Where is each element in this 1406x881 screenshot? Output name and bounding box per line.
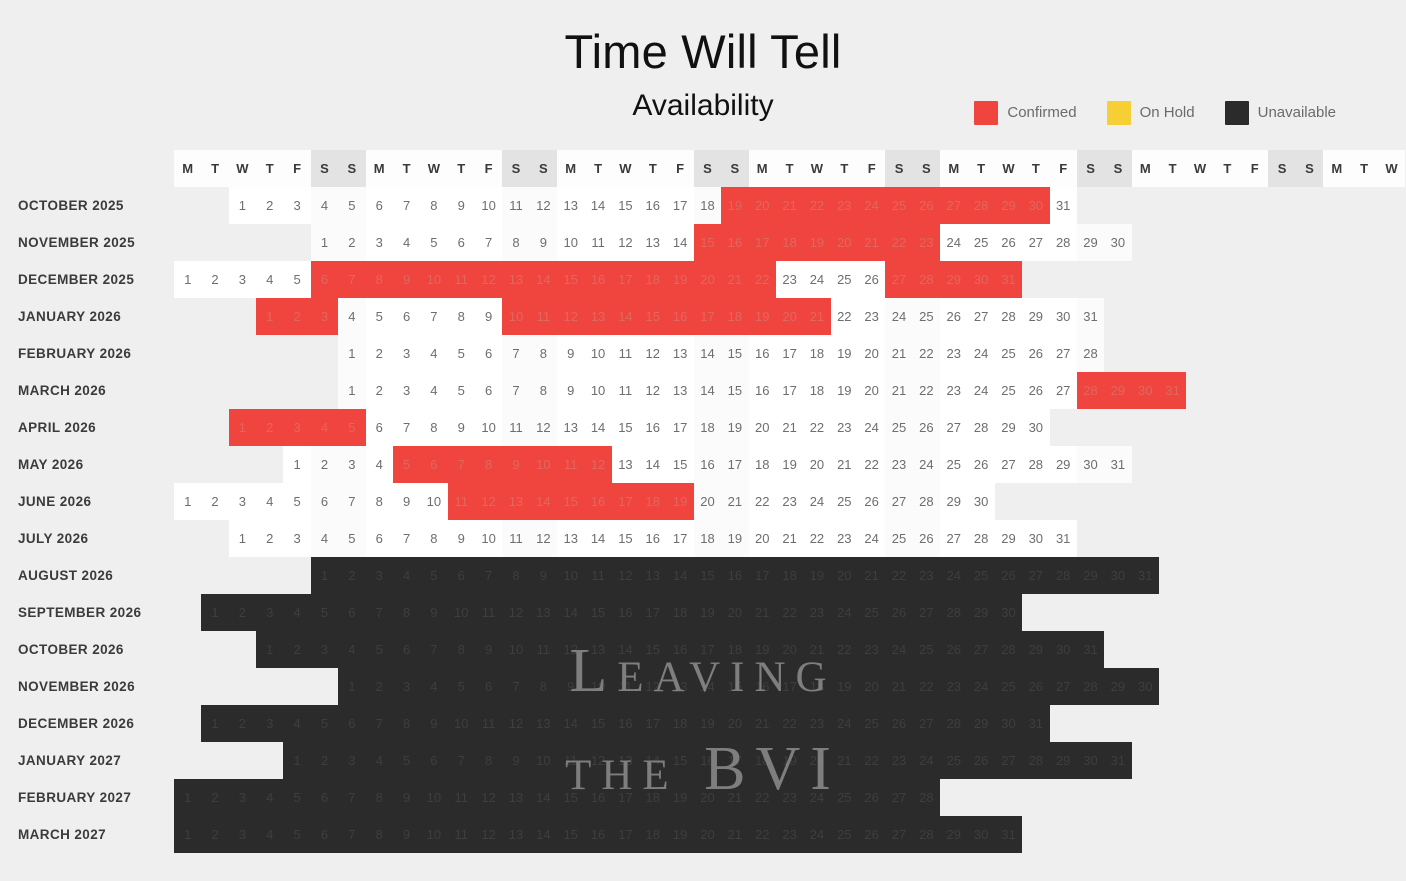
calendar-day-cell-confirmed[interactable]: 6 <box>311 261 338 298</box>
calendar-day-cell-unavailable[interactable]: 25 <box>967 557 994 594</box>
calendar-day-cell-free[interactable]: 16 <box>639 187 666 224</box>
calendar-day-cell-confirmed[interactable]: 21 <box>858 224 885 261</box>
calendar-day-cell-free[interactable]: 5 <box>448 335 475 372</box>
calendar-day-cell-confirmed[interactable]: 4 <box>311 409 338 446</box>
calendar-day-cell-unavailable[interactable]: 24 <box>803 816 830 853</box>
calendar-day-cell-free[interactable]: 24 <box>967 372 994 409</box>
calendar-day-cell-free[interactable]: 4 <box>420 335 447 372</box>
calendar-day-cell-unavailable[interactable]: 30 <box>1050 631 1077 668</box>
calendar-day-cell-unavailable[interactable]: 12 <box>584 742 611 779</box>
calendar-day-cell-unavailable[interactable]: 10 <box>530 742 557 779</box>
calendar-day-cell-unavailable[interactable]: 7 <box>420 631 447 668</box>
calendar-day-cell-free[interactable]: 22 <box>913 372 940 409</box>
calendar-day-cell-free[interactable]: 10 <box>584 335 611 372</box>
calendar-day-cell-unavailable[interactable]: 3 <box>311 631 338 668</box>
calendar-day-cell-unavailable[interactable]: 23 <box>803 705 830 742</box>
calendar-day-cell-unavailable[interactable]: 3 <box>366 557 393 594</box>
calendar-day-cell-free[interactable]: 24 <box>913 446 940 483</box>
calendar-day-cell-unavailable[interactable]: 11 <box>557 742 584 779</box>
calendar-day-cell-confirmed[interactable]: 25 <box>885 187 912 224</box>
calendar-day-cell-free[interactable]: 13 <box>557 520 584 557</box>
calendar-day-cell-free[interactable]: 25 <box>967 224 994 261</box>
calendar-day-cell-unavailable[interactable]: 9 <box>393 816 420 853</box>
calendar-day-cell-unavailable[interactable]: 17 <box>721 742 748 779</box>
calendar-day-cell-unavailable[interactable]: 20 <box>694 816 721 853</box>
calendar-day-cell-free[interactable]: 30 <box>1022 520 1049 557</box>
calendar-day-cell-free[interactable]: 4 <box>256 261 283 298</box>
calendar-day-cell-free[interactable]: 6 <box>475 372 502 409</box>
calendar-day-cell-free[interactable]: 28 <box>967 409 994 446</box>
calendar-day-cell-free[interactable]: 15 <box>612 187 639 224</box>
calendar-day-cell-confirmed[interactable]: 17 <box>612 483 639 520</box>
calendar-day-cell-unavailable[interactable]: 23 <box>858 631 885 668</box>
calendar-day-cell-free[interactable]: 31 <box>1077 298 1104 335</box>
calendar-day-cell-unavailable[interactable]: 4 <box>338 631 365 668</box>
calendar-day-cell-unavailable[interactable]: 22 <box>913 668 940 705</box>
calendar-day-cell-confirmed[interactable]: 15 <box>694 224 721 261</box>
calendar-day-cell-unavailable[interactable]: 10 <box>584 668 611 705</box>
calendar-day-cell-unavailable[interactable]: 15 <box>557 779 584 816</box>
calendar-day-cell-free[interactable]: 15 <box>721 335 748 372</box>
calendar-day-cell-unavailable[interactable]: 10 <box>502 631 529 668</box>
calendar-day-cell-unavailable[interactable]: 27 <box>913 594 940 631</box>
calendar-day-cell-free[interactable]: 6 <box>475 335 502 372</box>
calendar-day-cell-unavailable[interactable]: 25 <box>831 779 858 816</box>
calendar-day-cell-confirmed[interactable]: 11 <box>448 261 475 298</box>
calendar-day-cell-unavailable[interactable]: 21 <box>721 816 748 853</box>
calendar-day-cell-free[interactable]: 25 <box>831 483 858 520</box>
calendar-day-cell-free[interactable]: 2 <box>201 261 228 298</box>
calendar-day-cell-unavailable[interactable]: 23 <box>776 779 803 816</box>
calendar-day-cell-unavailable[interactable]: 20 <box>721 594 748 631</box>
calendar-day-cell-confirmed[interactable]: 7 <box>338 261 365 298</box>
calendar-day-cell-free[interactable]: 26 <box>1022 335 1049 372</box>
calendar-day-cell-confirmed[interactable]: 30 <box>1132 372 1159 409</box>
calendar-day-cell-unavailable[interactable]: 20 <box>694 779 721 816</box>
calendar-day-cell-confirmed[interactable]: 11 <box>530 298 557 335</box>
calendar-day-cell-free[interactable]: 27 <box>940 520 967 557</box>
calendar-day-cell-unavailable[interactable]: 19 <box>803 557 830 594</box>
calendar-day-cell-free[interactable]: 31 <box>1050 520 1077 557</box>
calendar-day-cell-free[interactable]: 21 <box>831 446 858 483</box>
calendar-day-cell-free[interactable]: 15 <box>612 409 639 446</box>
calendar-day-cell-free[interactable]: 21 <box>721 483 748 520</box>
calendar-day-cell-free[interactable]: 3 <box>229 261 256 298</box>
calendar-day-cell-unavailable[interactable]: 1 <box>311 557 338 594</box>
calendar-day-cell-unavailable[interactable]: 17 <box>749 557 776 594</box>
calendar-day-cell-unavailable[interactable]: 14 <box>557 594 584 631</box>
calendar-day-cell-confirmed[interactable]: 1 <box>229 409 256 446</box>
calendar-day-cell-unavailable[interactable]: 10 <box>420 816 447 853</box>
calendar-day-cell-free[interactable]: 15 <box>666 446 693 483</box>
calendar-day-cell-unavailable[interactable]: 26 <box>967 742 994 779</box>
calendar-day-cell-free[interactable]: 10 <box>420 483 447 520</box>
calendar-day-cell-confirmed[interactable]: 15 <box>557 483 584 520</box>
calendar-day-cell-free[interactable]: 10 <box>584 372 611 409</box>
calendar-day-cell-confirmed[interactable]: 28 <box>913 261 940 298</box>
calendar-day-cell-free[interactable]: 3 <box>393 372 420 409</box>
calendar-day-cell-unavailable[interactable]: 22 <box>749 779 776 816</box>
calendar-day-cell-unavailable[interactable]: 11 <box>475 594 502 631</box>
calendar-day-cell-unavailable[interactable]: 15 <box>666 742 693 779</box>
calendar-day-cell-unavailable[interactable]: 17 <box>776 668 803 705</box>
calendar-day-cell-free[interactable]: 9 <box>557 372 584 409</box>
calendar-day-cell-free[interactable]: 15 <box>612 520 639 557</box>
calendar-day-cell-unavailable[interactable]: 14 <box>530 779 557 816</box>
calendar-day-cell-unavailable[interactable]: 4 <box>283 705 310 742</box>
calendar-day-cell-free[interactable]: 17 <box>666 409 693 446</box>
calendar-day-cell-free[interactable]: 22 <box>803 409 830 446</box>
calendar-day-cell-free[interactable]: 17 <box>776 335 803 372</box>
calendar-day-cell-free[interactable]: 8 <box>530 372 557 409</box>
calendar-day-cell-free[interactable]: 11 <box>612 372 639 409</box>
calendar-day-cell-free[interactable]: 2 <box>256 187 283 224</box>
calendar-day-cell-unavailable[interactable]: 13 <box>639 557 666 594</box>
calendar-day-cell-free[interactable]: 5 <box>338 520 365 557</box>
calendar-day-cell-unavailable[interactable]: 25 <box>858 705 885 742</box>
calendar-day-cell-free[interactable]: 6 <box>393 298 420 335</box>
calendar-day-cell-free[interactable]: 24 <box>858 409 885 446</box>
calendar-day-cell-unavailable[interactable]: 14 <box>694 668 721 705</box>
calendar-day-cell-unavailable[interactable]: 11 <box>612 668 639 705</box>
calendar-day-cell-confirmed[interactable]: 21 <box>776 187 803 224</box>
calendar-day-cell-free[interactable]: 25 <box>831 261 858 298</box>
calendar-day-cell-free[interactable]: 30 <box>1104 224 1131 261</box>
calendar-day-cell-free[interactable]: 7 <box>393 187 420 224</box>
calendar-day-cell-unavailable[interactable]: 28 <box>913 779 940 816</box>
calendar-day-cell-free[interactable]: 23 <box>776 483 803 520</box>
calendar-day-cell-unavailable[interactable]: 11 <box>475 705 502 742</box>
calendar-day-cell-confirmed[interactable]: 5 <box>338 409 365 446</box>
calendar-day-cell-unavailable[interactable]: 26 <box>940 631 967 668</box>
calendar-day-cell-unavailable[interactable]: 24 <box>831 594 858 631</box>
calendar-day-cell-unavailable[interactable]: 26 <box>858 779 885 816</box>
calendar-day-cell-free[interactable]: 17 <box>721 446 748 483</box>
calendar-day-cell-unavailable[interactable]: 6 <box>448 557 475 594</box>
calendar-day-cell-confirmed[interactable]: 12 <box>557 298 584 335</box>
calendar-day-cell-confirmed[interactable]: 14 <box>530 483 557 520</box>
calendar-day-cell-free[interactable]: 13 <box>612 446 639 483</box>
calendar-day-cell-free[interactable]: 1 <box>229 520 256 557</box>
calendar-day-cell-free[interactable]: 18 <box>803 335 830 372</box>
calendar-day-cell-free[interactable]: 25 <box>995 372 1022 409</box>
calendar-day-cell-free[interactable]: 20 <box>858 335 885 372</box>
calendar-day-cell-confirmed[interactable]: 22 <box>803 187 830 224</box>
calendar-day-cell-free[interactable]: 29 <box>995 520 1022 557</box>
calendar-day-cell-free[interactable]: 10 <box>557 224 584 261</box>
calendar-day-cell-confirmed[interactable]: 11 <box>557 446 584 483</box>
calendar-day-cell-unavailable[interactable]: 26 <box>1022 668 1049 705</box>
calendar-day-cell-confirmed[interactable]: 29 <box>940 261 967 298</box>
calendar-day-cell-confirmed[interactable]: 14 <box>530 261 557 298</box>
calendar-day-cell-unavailable[interactable]: 17 <box>612 816 639 853</box>
calendar-day-cell-unavailable[interactable]: 18 <box>666 705 693 742</box>
calendar-day-cell-unavailable[interactable]: 20 <box>803 742 830 779</box>
calendar-day-cell-unavailable[interactable]: 3 <box>338 742 365 779</box>
calendar-day-cell-free[interactable]: 25 <box>885 520 912 557</box>
calendar-day-cell-unavailable[interactable]: 2 <box>201 779 228 816</box>
calendar-day-cell-unavailable[interactable]: 12 <box>475 816 502 853</box>
calendar-day-cell-free[interactable]: 27 <box>1022 224 1049 261</box>
calendar-day-cell-unavailable[interactable]: 22 <box>776 705 803 742</box>
calendar-day-cell-unavailable[interactable]: 23 <box>803 594 830 631</box>
calendar-day-cell-unavailable[interactable]: 13 <box>502 816 529 853</box>
calendar-day-cell-free[interactable]: 19 <box>721 409 748 446</box>
calendar-day-cell-unavailable[interactable]: 19 <box>666 816 693 853</box>
calendar-day-cell-free[interactable]: 26 <box>858 261 885 298</box>
calendar-day-cell-confirmed[interactable]: 2 <box>256 409 283 446</box>
calendar-day-cell-unavailable[interactable]: 18 <box>803 668 830 705</box>
calendar-day-cell-confirmed[interactable]: 18 <box>639 483 666 520</box>
calendar-day-cell-confirmed[interactable]: 21 <box>721 261 748 298</box>
calendar-day-cell-free[interactable]: 1 <box>174 483 201 520</box>
calendar-day-cell-unavailable[interactable]: 27 <box>967 631 994 668</box>
calendar-day-cell-free[interactable]: 4 <box>393 224 420 261</box>
calendar-day-cell-unavailable[interactable]: 2 <box>338 557 365 594</box>
calendar-day-cell-unavailable[interactable]: 12 <box>557 631 584 668</box>
calendar-day-cell-free[interactable]: 13 <box>557 409 584 446</box>
calendar-day-cell-free[interactable]: 19 <box>831 335 858 372</box>
calendar-day-cell-confirmed[interactable]: 12 <box>475 483 502 520</box>
calendar-day-cell-confirmed[interactable]: 28 <box>967 187 994 224</box>
calendar-day-cell-unavailable[interactable]: 30 <box>1104 557 1131 594</box>
calendar-day-cell-confirmed[interactable]: 9 <box>393 261 420 298</box>
calendar-day-cell-unavailable[interactable]: 1 <box>201 705 228 742</box>
calendar-day-cell-unavailable[interactable]: 15 <box>639 631 666 668</box>
calendar-day-cell-free[interactable]: 14 <box>694 372 721 409</box>
calendar-day-cell-free[interactable]: 23 <box>831 409 858 446</box>
calendar-day-cell-unavailable[interactable]: 14 <box>639 742 666 779</box>
calendar-day-cell-free[interactable]: 10 <box>475 520 502 557</box>
calendar-day-cell-unavailable[interactable]: 30 <box>1077 742 1104 779</box>
calendar-day-cell-unavailable[interactable]: 29 <box>940 816 967 853</box>
calendar-day-cell-free[interactable]: 2 <box>366 372 393 409</box>
calendar-day-cell-unavailable[interactable]: 21 <box>858 557 885 594</box>
calendar-day-cell-free[interactable]: 3 <box>229 483 256 520</box>
calendar-day-cell-unavailable[interactable]: 2 <box>366 668 393 705</box>
calendar-day-cell-unavailable[interactable]: 29 <box>1077 557 1104 594</box>
calendar-day-cell-unavailable[interactable]: 20 <box>831 557 858 594</box>
calendar-day-cell-free[interactable]: 23 <box>776 261 803 298</box>
calendar-day-cell-unavailable[interactable]: 2 <box>229 705 256 742</box>
calendar-day-cell-free[interactable]: 11 <box>584 224 611 261</box>
calendar-day-cell-free[interactable]: 16 <box>749 372 776 409</box>
calendar-day-cell-free[interactable]: 28 <box>967 520 994 557</box>
calendar-day-cell-unavailable[interactable]: 21 <box>803 631 830 668</box>
calendar-day-cell-free[interactable]: 6 <box>366 520 393 557</box>
calendar-day-cell-confirmed[interactable]: 13 <box>502 261 529 298</box>
calendar-day-cell-free[interactable]: 7 <box>475 224 502 261</box>
calendar-day-cell-confirmed[interactable]: 3 <box>311 298 338 335</box>
calendar-day-cell-free[interactable]: 7 <box>393 520 420 557</box>
calendar-day-cell-unavailable[interactable]: 17 <box>639 705 666 742</box>
calendar-day-cell-free[interactable]: 28 <box>913 483 940 520</box>
calendar-day-cell-confirmed[interactable]: 20 <box>831 224 858 261</box>
calendar-day-cell-free[interactable]: 27 <box>940 409 967 446</box>
calendar-day-cell-free[interactable]: 7 <box>420 298 447 335</box>
calendar-day-cell-unavailable[interactable]: 5 <box>393 742 420 779</box>
calendar-day-cell-free[interactable]: 5 <box>283 261 310 298</box>
calendar-day-cell-unavailable[interactable]: 1 <box>338 668 365 705</box>
calendar-day-cell-free[interactable]: 5 <box>448 372 475 409</box>
calendar-day-cell-free[interactable]: 17 <box>776 372 803 409</box>
calendar-day-cell-free[interactable]: 8 <box>502 224 529 261</box>
calendar-day-cell-free[interactable]: 6 <box>366 409 393 446</box>
calendar-day-cell-unavailable[interactable]: 3 <box>393 668 420 705</box>
calendar-day-cell-free[interactable]: 23 <box>831 520 858 557</box>
calendar-day-cell-unavailable[interactable]: 16 <box>612 594 639 631</box>
calendar-day-cell-unavailable[interactable]: 6 <box>420 742 447 779</box>
calendar-day-cell-free[interactable]: 15 <box>721 372 748 409</box>
calendar-day-cell-free[interactable]: 13 <box>557 187 584 224</box>
calendar-day-cell-free[interactable]: 20 <box>749 520 776 557</box>
calendar-day-cell-unavailable[interactable]: 11 <box>584 557 611 594</box>
calendar-day-cell-free[interactable]: 12 <box>530 409 557 446</box>
calendar-day-cell-free[interactable]: 30 <box>1077 446 1104 483</box>
calendar-day-cell-unavailable[interactable]: 6 <box>311 779 338 816</box>
calendar-day-cell-free[interactable]: 5 <box>366 298 393 335</box>
calendar-day-cell-free[interactable]: 19 <box>721 520 748 557</box>
calendar-day-cell-free[interactable]: 27 <box>967 298 994 335</box>
calendar-day-cell-unavailable[interactable]: 12 <box>502 594 529 631</box>
calendar-day-cell-unavailable[interactable]: 5 <box>311 705 338 742</box>
calendar-day-cell-free[interactable]: 24 <box>885 298 912 335</box>
calendar-day-cell-free[interactable]: 8 <box>420 187 447 224</box>
calendar-day-cell-unavailable[interactable]: 26 <box>995 557 1022 594</box>
calendar-day-cell-unavailable[interactable]: 7 <box>366 705 393 742</box>
calendar-day-cell-free[interactable]: 14 <box>584 520 611 557</box>
calendar-day-cell-unavailable[interactable]: 19 <box>749 631 776 668</box>
calendar-day-cell-confirmed[interactable]: 21 <box>803 298 830 335</box>
calendar-day-cell-free[interactable]: 26 <box>1022 372 1049 409</box>
calendar-day-cell-unavailable[interactable]: 25 <box>913 631 940 668</box>
calendar-day-cell-confirmed[interactable]: 16 <box>721 224 748 261</box>
calendar-day-cell-free[interactable]: 27 <box>1050 372 1077 409</box>
calendar-day-cell-unavailable[interactable]: 14 <box>530 816 557 853</box>
calendar-day-cell-unavailable[interactable]: 9 <box>557 668 584 705</box>
calendar-day-cell-confirmed[interactable]: 19 <box>666 261 693 298</box>
calendar-day-cell-unavailable[interactable]: 21 <box>749 705 776 742</box>
calendar-day-cell-free[interactable]: 6 <box>448 224 475 261</box>
calendar-day-cell-confirmed[interactable]: 19 <box>803 224 830 261</box>
calendar-day-cell-confirmed[interactable]: 5 <box>393 446 420 483</box>
calendar-day-cell-unavailable[interactable]: 3 <box>256 705 283 742</box>
calendar-day-cell-unavailable[interactable]: 13 <box>502 779 529 816</box>
calendar-day-cell-unavailable[interactable]: 7 <box>366 594 393 631</box>
calendar-day-cell-confirmed[interactable]: 7 <box>448 446 475 483</box>
calendar-day-cell-confirmed[interactable]: 10 <box>502 298 529 335</box>
calendar-day-cell-free[interactable]: 12 <box>612 224 639 261</box>
calendar-day-cell-unavailable[interactable]: 4 <box>256 816 283 853</box>
calendar-day-cell-unavailable[interactable]: 5 <box>420 557 447 594</box>
calendar-day-cell-unavailable[interactable]: 12 <box>475 779 502 816</box>
calendar-day-cell-unavailable[interactable]: 23 <box>885 742 912 779</box>
calendar-day-cell-unavailable[interactable]: 3 <box>229 816 256 853</box>
calendar-day-cell-unavailable[interactable]: 17 <box>694 631 721 668</box>
calendar-day-cell-confirmed[interactable]: 16 <box>584 483 611 520</box>
calendar-day-cell-unavailable[interactable]: 1 <box>283 742 310 779</box>
calendar-day-cell-unavailable[interactable]: 16 <box>721 557 748 594</box>
calendar-day-cell-unavailable[interactable]: 2 <box>311 742 338 779</box>
calendar-day-cell-unavailable[interactable]: 22 <box>749 816 776 853</box>
calendar-day-cell-unavailable[interactable]: 9 <box>420 594 447 631</box>
calendar-day-cell-free[interactable]: 8 <box>420 409 447 446</box>
calendar-day-cell-unavailable[interactable]: 18 <box>639 779 666 816</box>
calendar-day-cell-confirmed[interactable]: 22 <box>885 224 912 261</box>
calendar-day-cell-free[interactable]: 9 <box>557 335 584 372</box>
calendar-day-cell-unavailable[interactable]: 8 <box>393 705 420 742</box>
calendar-day-cell-unavailable[interactable]: 11 <box>448 816 475 853</box>
calendar-day-cell-confirmed[interactable]: 8 <box>366 261 393 298</box>
calendar-day-cell-free[interactable]: 28 <box>1050 224 1077 261</box>
calendar-day-cell-free[interactable]: 19 <box>831 372 858 409</box>
calendar-day-cell-unavailable[interactable]: 13 <box>530 705 557 742</box>
calendar-day-cell-unavailable[interactable]: 14 <box>666 557 693 594</box>
calendar-day-cell-free[interactable]: 20 <box>803 446 830 483</box>
calendar-day-cell-free[interactable]: 3 <box>366 224 393 261</box>
calendar-day-cell-unavailable[interactable]: 5 <box>366 631 393 668</box>
calendar-day-cell-unavailable[interactable]: 11 <box>448 779 475 816</box>
calendar-day-cell-unavailable[interactable]: 20 <box>776 631 803 668</box>
calendar-day-cell-confirmed[interactable]: 1 <box>256 298 283 335</box>
calendar-day-cell-free[interactable]: 25 <box>940 446 967 483</box>
calendar-day-cell-free[interactable]: 28 <box>1022 446 1049 483</box>
calendar-day-cell-free[interactable]: 24 <box>967 335 994 372</box>
calendar-day-cell-unavailable[interactable]: 30 <box>1132 668 1159 705</box>
calendar-day-cell-confirmed[interactable]: 19 <box>666 483 693 520</box>
calendar-day-cell-free[interactable]: 24 <box>803 261 830 298</box>
calendar-day-cell-free[interactable]: 10 <box>475 409 502 446</box>
calendar-day-cell-confirmed[interactable]: 19 <box>749 298 776 335</box>
calendar-day-cell-free[interactable]: 4 <box>256 483 283 520</box>
calendar-day-cell-unavailable[interactable]: 16 <box>749 668 776 705</box>
calendar-day-cell-free[interactable]: 4 <box>311 520 338 557</box>
calendar-day-cell-free[interactable]: 17 <box>666 520 693 557</box>
calendar-day-cell-unavailable[interactable]: 16 <box>694 742 721 779</box>
calendar-day-cell-unavailable[interactable]: 31 <box>995 816 1022 853</box>
calendar-day-cell-unavailable[interactable]: 30 <box>995 705 1022 742</box>
calendar-day-cell-unavailable[interactable]: 4 <box>366 742 393 779</box>
calendar-day-cell-confirmed[interactable]: 30 <box>967 261 994 298</box>
calendar-day-cell-free[interactable]: 13 <box>639 224 666 261</box>
calendar-day-cell-unavailable[interactable]: 15 <box>557 816 584 853</box>
calendar-day-cell-unavailable[interactable]: 20 <box>858 668 885 705</box>
calendar-day-cell-unavailable[interactable]: 28 <box>940 594 967 631</box>
calendar-day-cell-confirmed[interactable]: 24 <box>858 187 885 224</box>
calendar-day-cell-free[interactable]: 13 <box>666 335 693 372</box>
calendar-day-cell-free[interactable]: 26 <box>913 520 940 557</box>
calendar-day-cell-unavailable[interactable]: 21 <box>749 594 776 631</box>
calendar-day-cell-free[interactable]: 30 <box>1022 409 1049 446</box>
calendar-day-cell-confirmed[interactable]: 13 <box>502 483 529 520</box>
calendar-day-cell-unavailable[interactable]: 30 <box>967 816 994 853</box>
calendar-day-cell-unavailable[interactable]: 13 <box>666 668 693 705</box>
calendar-day-cell-free[interactable]: 8 <box>448 298 475 335</box>
calendar-day-cell-unavailable[interactable]: 28 <box>940 705 967 742</box>
calendar-day-cell-free[interactable]: 7 <box>502 372 529 409</box>
calendar-day-cell-unavailable[interactable]: 18 <box>639 816 666 853</box>
calendar-day-cell-free[interactable]: 18 <box>694 409 721 446</box>
calendar-day-cell-unavailable[interactable]: 29 <box>1022 631 1049 668</box>
calendar-day-cell-unavailable[interactable]: 27 <box>885 816 912 853</box>
calendar-day-cell-unavailable[interactable]: 4 <box>420 668 447 705</box>
calendar-day-cell-unavailable[interactable]: 15 <box>721 668 748 705</box>
calendar-day-cell-unavailable[interactable]: 31 <box>1077 631 1104 668</box>
calendar-day-cell-unavailable[interactable]: 19 <box>694 594 721 631</box>
calendar-day-cell-free[interactable]: 3 <box>283 520 310 557</box>
calendar-day-cell-unavailable[interactable]: 19 <box>694 705 721 742</box>
calendar-day-cell-free[interactable]: 4 <box>311 187 338 224</box>
